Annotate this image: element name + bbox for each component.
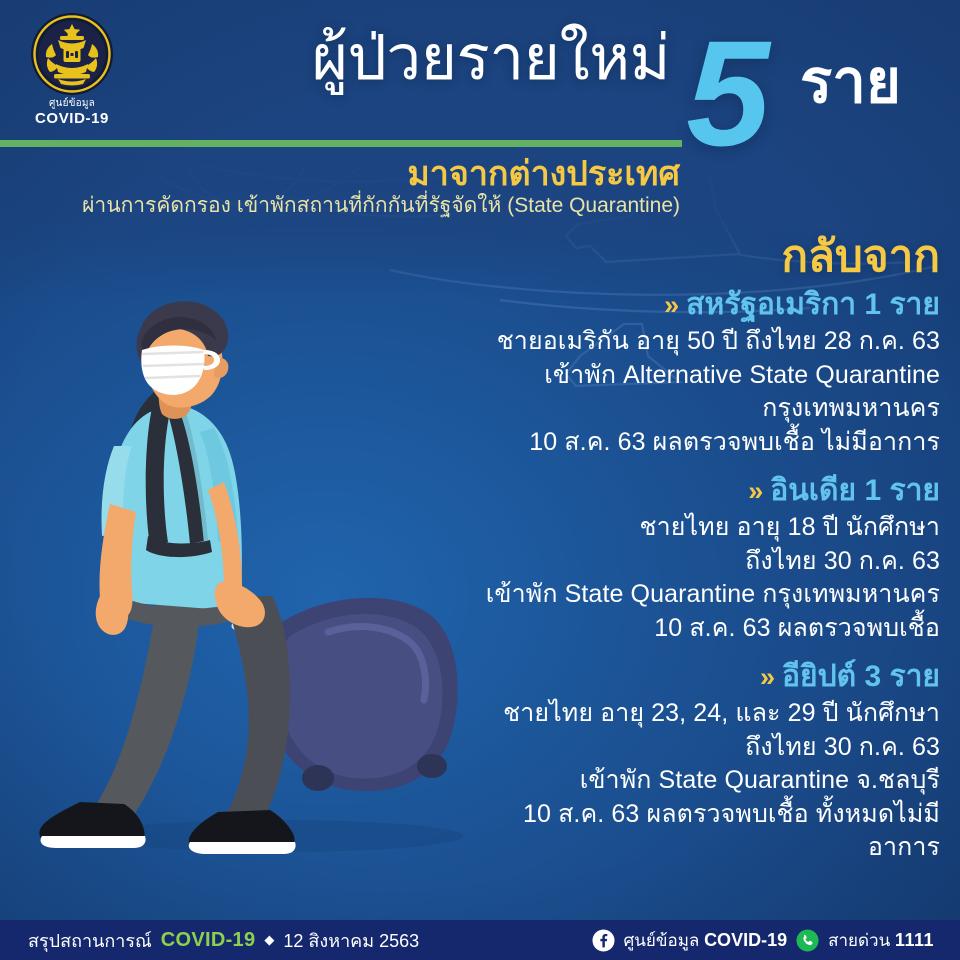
chevron-double-right-icon: »	[748, 478, 760, 505]
facebook-icon[interactable]	[592, 929, 615, 952]
country-detail-line: กรุงเทพมหานคร	[455, 392, 940, 426]
footer-summary-label: สรุปสถานการณ์	[28, 926, 152, 955]
emblem-caption-line2: COVID-19	[18, 111, 126, 127]
country-detail-line: 10 ส.ค. 63 ผลตรวจพบเชื้อ ไม่มีอาการ	[455, 426, 940, 460]
emblem-block: ศูนย์ข้อมูล COVID-19	[18, 12, 126, 126]
country-group-header: »อียิปต์ 3 ราย	[455, 659, 940, 695]
country-groups: »สหรัฐอเมริกา 1 รายชายอเมริกัน อายุ 50 ป…	[455, 287, 940, 865]
country-detail-line: ชายอเมริกัน อายุ 50 ปี ถึงไทย 28 ก.ค. 63	[455, 325, 940, 359]
footer-right: ศูนย์ข้อมูล COVID-19 สายด่วน 1111	[592, 927, 935, 954]
country-detail-line: ชายไทย อายุ 18 ปี นักศึกษา	[455, 511, 940, 545]
country-detail-lines: ชายอเมริกัน อายุ 50 ปี ถึงไทย 28 ก.ค. 63…	[455, 325, 940, 459]
country-detail-line: เข้าพัก State Quarantine กรุงเทพมหานคร	[455, 578, 940, 612]
country-name: อียิปต์ 3 ราย	[782, 659, 940, 695]
emblem-caption-line1: ศูนย์ข้อมูล	[18, 99, 126, 110]
country-name: สหรัฐอเมริกา 1 ราย	[686, 287, 940, 323]
footer-hotline-text: สายด่วน 1111	[828, 927, 934, 954]
country-name: อินเดีย 1 ราย	[770, 473, 940, 509]
footer-date: 12 สิงหาคม 2563	[283, 926, 419, 955]
page-title: ผู้ป่วยรายใหม่	[150, 26, 670, 91]
new-case-count-unit: ราย	[800, 52, 901, 112]
country-detail-line: 10 ส.ค. 63 ผลตรวจพบเชื้อ	[455, 612, 940, 646]
country-detail-lines: ชายไทย อายุ 23, 24, และ 29 ปี นักศึกษาถึ…	[455, 697, 940, 865]
country-detail-line: ถึงไทย 30 ก.ค. 63	[455, 731, 940, 765]
country-detail-line: เข้าพัก State Quarantine จ.ชลบุรี	[455, 764, 940, 798]
phone-call-icon[interactable]	[796, 929, 819, 952]
footer-facebook-label: ศูนย์ข้อมูล	[624, 931, 700, 950]
country-group: »อียิปต์ 3 รายชายไทย อายุ 23, 24, และ 29…	[455, 659, 940, 865]
subtitle-detail: ผ่านการคัดกรอง เข้าพักสถานที่กักกันที่รั…	[40, 194, 680, 218]
infographic-poster: ศูนย์ข้อมูล COVID-19 ผู้ป่วยรายใหม่ 5 รา…	[0, 0, 960, 960]
footer-bar: สรุปสถานการณ์ COVID-19 ◆ 12 สิงหาคม 2563…	[0, 920, 960, 960]
footer-hotline-number: 1111	[895, 930, 934, 950]
country-group: »สหรัฐอเมริกา 1 รายชายอเมริกัน อายุ 50 ป…	[455, 287, 940, 459]
country-detail-line: เข้าพัก Alternative State Quarantine	[455, 359, 940, 393]
country-detail-line: 10 ส.ค. 63 ผลตรวจพบเชื้อ ทั้งหมดไม่มีอาก…	[455, 798, 940, 865]
cases-content: กลับจาก »สหรัฐอเมริกา 1 รายชายอเมริกัน อ…	[455, 232, 940, 865]
country-detail-line: ถึงไทย 30 ก.ค. 63	[455, 545, 940, 579]
emblem-caption: ศูนย์ข้อมูล COVID-19	[18, 99, 126, 126]
chevron-double-right-icon: »	[760, 664, 772, 691]
footer-hotline-label: สายด่วน	[828, 931, 890, 950]
thai-royal-garuda-seal-icon	[30, 12, 114, 96]
footer-facebook-text: ศูนย์ข้อมูล COVID-19	[624, 927, 788, 954]
content-title: กลับจาก	[455, 232, 940, 281]
country-detail-line: ชายไทย อายุ 23, 24, และ 29 ปี นักศึกษา	[455, 697, 940, 731]
footer-left: สรุปสถานการณ์ COVID-19 ◆ 12 สิงหาคม 2563	[28, 926, 419, 955]
country-detail-lines: ชายไทย อายุ 18 ปี นักศึกษาถึงไทย 30 ก.ค.…	[455, 511, 940, 645]
subtitle-origin: มาจากต่างประเทศ	[120, 156, 680, 193]
country-group: »อินเดีย 1 รายชายไทย อายุ 18 ปี นักศึกษา…	[455, 473, 940, 645]
country-group-header: »อินเดีย 1 ราย	[455, 473, 940, 509]
country-group-header: »สหรัฐอเมริกา 1 ราย	[455, 287, 940, 323]
footer-separator-icon: ◆	[264, 932, 274, 948]
footer-brand: COVID-19	[161, 929, 256, 952]
footer-facebook-brand: COVID-19	[704, 930, 787, 950]
chevron-double-right-icon: »	[664, 292, 676, 319]
traveler-illustration	[28, 296, 468, 866]
green-divider	[0, 140, 682, 147]
